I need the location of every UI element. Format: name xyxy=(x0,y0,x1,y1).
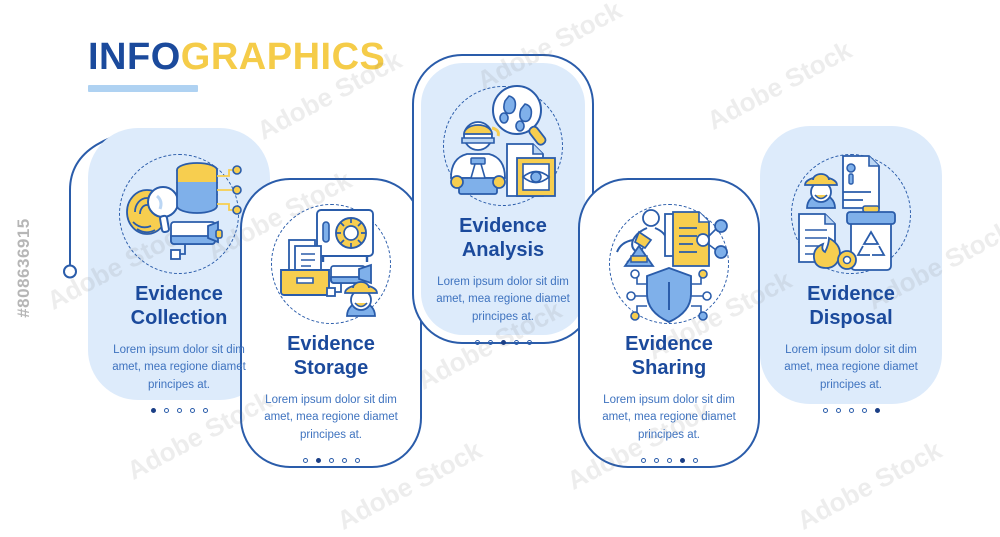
step-dot-2[interactable] xyxy=(164,408,169,413)
step-dot-3[interactable] xyxy=(667,458,672,463)
running-person-marker-icon xyxy=(617,210,667,266)
detective-document-icon xyxy=(805,156,879,208)
step-dot-1[interactable] xyxy=(475,340,480,345)
step-dot-4[interactable] xyxy=(862,408,867,413)
step-dot-4[interactable] xyxy=(342,458,347,463)
footprints-magnifier-icon xyxy=(493,86,547,146)
shield-network-icon xyxy=(627,268,711,322)
page-title: INFOGRAPHICS xyxy=(88,38,385,92)
card-body: Lorem ipsum dolor sit dim amet, mea regi… xyxy=(591,392,747,444)
card-body: Lorem ipsum dolor sit dim amet, mea regi… xyxy=(253,392,409,444)
document-eye-icon xyxy=(507,144,555,196)
title-info: INFO xyxy=(88,36,181,78)
left-connector-endpoint xyxy=(64,266,76,278)
forensic-scientist-icon xyxy=(451,122,505,194)
step-dot-4[interactable] xyxy=(680,458,685,463)
icon-group-analysis xyxy=(437,82,569,208)
step-dot-4[interactable] xyxy=(190,408,195,413)
step-dot-3[interactable] xyxy=(177,408,182,413)
step-dot-1[interactable] xyxy=(823,408,828,413)
step-dot-5[interactable] xyxy=(203,408,208,413)
step-dots[interactable] xyxy=(303,458,360,463)
step-dot-4[interactable] xyxy=(514,340,519,345)
step-dot-5[interactable] xyxy=(527,340,532,345)
step-dot-3[interactable] xyxy=(329,458,334,463)
card-title: Evidence Storage xyxy=(287,332,375,381)
card-evidence-analysis[interactable]: Evidence Analysis Lorem ipsum dolor sit … xyxy=(412,54,594,344)
step-dots[interactable] xyxy=(151,408,208,413)
card-title: Evidence Analysis xyxy=(459,214,547,263)
title-underline xyxy=(88,85,198,92)
step-dot-3[interactable] xyxy=(849,408,854,413)
step-dot-5[interactable] xyxy=(875,408,880,413)
share-documents-icon xyxy=(665,212,727,266)
card-evidence-disposal[interactable]: Evidence Disposal Lorem ipsum dolor sit … xyxy=(760,126,942,404)
folder-documents-icon xyxy=(281,240,329,295)
icon-group-sharing xyxy=(603,200,735,326)
step-dot-1[interactable] xyxy=(641,458,646,463)
step-dot-5[interactable] xyxy=(355,458,360,463)
title-graphics: GRAPHICS xyxy=(181,36,386,78)
card-title: Evidence Collection xyxy=(131,282,228,331)
watermark-tile: Adobe Stock xyxy=(792,435,947,537)
step-dots[interactable] xyxy=(641,458,698,463)
stock-id-watermark: #808636915 xyxy=(14,198,34,338)
step-dots[interactable] xyxy=(823,408,880,413)
icon-group-disposal xyxy=(785,150,917,276)
camera-detective-icon xyxy=(327,265,377,316)
step-dot-5[interactable] xyxy=(693,458,698,463)
card-evidence-storage[interactable]: Evidence Storage Lorem ipsum dolor sit d… xyxy=(240,178,422,468)
step-dot-2[interactable] xyxy=(836,408,841,413)
step-dot-2[interactable] xyxy=(316,458,321,463)
watermark-tile: Adobe Stock xyxy=(702,35,857,137)
step-dot-1[interactable] xyxy=(151,408,156,413)
icon-group-storage xyxy=(265,200,397,326)
card-body: Lorem ipsum dolor sit dim amet, mea regi… xyxy=(425,274,581,326)
card-body: Lorem ipsum dolor sit dim amet, mea regi… xyxy=(101,342,257,394)
card-evidence-sharing[interactable]: Evidence Sharing Lorem ipsum dolor sit d… xyxy=(578,178,760,468)
step-dot-1[interactable] xyxy=(303,458,308,463)
step-dots[interactable] xyxy=(475,340,532,345)
security-camera-icon xyxy=(171,222,222,259)
card-body: Lorem ipsum dolor sit dim amet, mea regi… xyxy=(773,342,929,394)
card-title: Evidence Disposal xyxy=(807,282,895,331)
step-dot-2[interactable] xyxy=(488,340,493,345)
burning-document-icon xyxy=(799,214,840,268)
recycle-bin-icon xyxy=(838,206,895,270)
database-stack-icon xyxy=(177,163,241,214)
icon-group-collection xyxy=(113,150,245,276)
step-dot-2[interactable] xyxy=(654,458,659,463)
step-dot-3[interactable] xyxy=(501,340,506,345)
safe-vault-icon xyxy=(317,210,373,262)
infographic-canvas: INFOGRAPHICS xyxy=(0,0,1000,526)
card-title: Evidence Sharing xyxy=(625,332,713,381)
